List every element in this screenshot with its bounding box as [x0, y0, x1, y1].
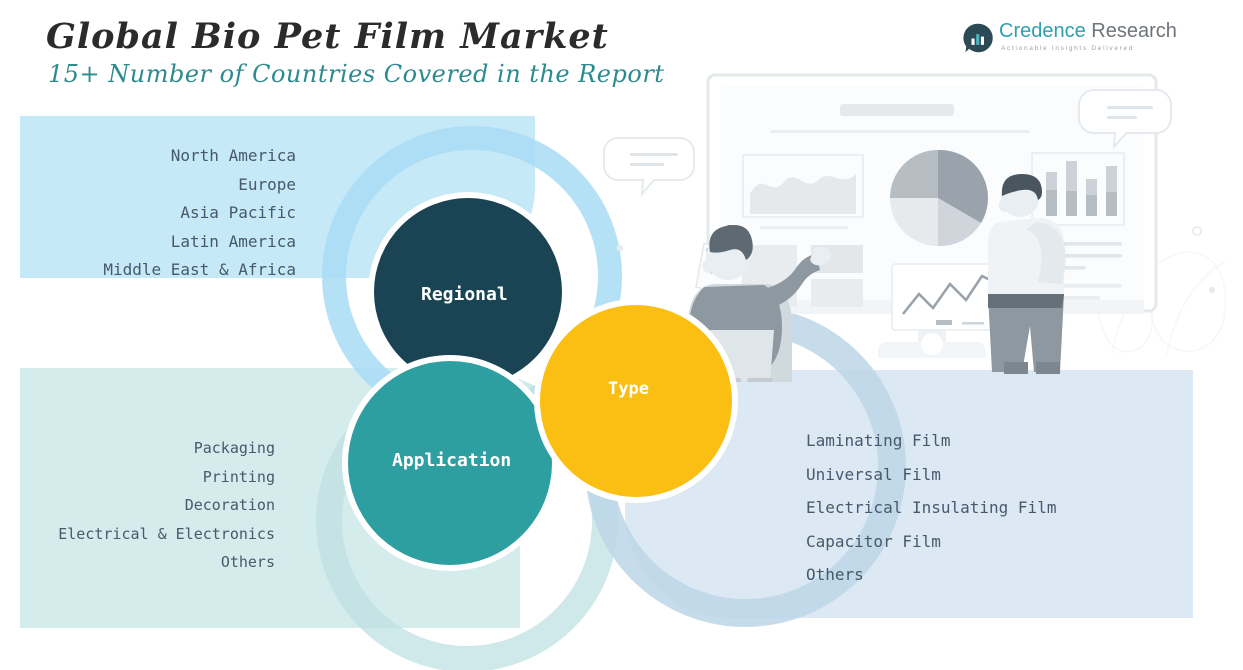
list-item: Europe — [0, 171, 296, 200]
bubble-type[interactable]: Type — [534, 299, 738, 503]
credence-logo-icon — [963, 23, 993, 53]
list-item: Packaging — [0, 434, 275, 463]
person-presenter-right — [988, 174, 1066, 374]
logo-brand-primary: Credence — [999, 20, 1086, 42]
list-type: Laminating Film Universal Film Electrica… — [806, 424, 1056, 592]
list-item: Middle East & Africa — [0, 256, 296, 285]
bubble-label-regional: Regional — [421, 284, 508, 305]
bubble-application[interactable]: Application — [342, 355, 558, 571]
list-item: Asia Pacific — [0, 199, 296, 228]
page-title: Global Bio Pet Film Market — [46, 16, 609, 57]
credence-research-logo: Credence Research Actionable Insights De… — [963, 22, 1168, 62]
list-item: Others — [806, 558, 1056, 592]
logo-tagline: Actionable Insights Delivered — [1001, 45, 1134, 52]
list-item: Others — [0, 548, 275, 577]
infographic-canvas: Global Bio Pet Film Market 15+ Number of… — [0, 0, 1243, 670]
list-item: Laminating Film — [806, 424, 1056, 458]
list-application: Packaging Printing Decoration Electrical… — [0, 434, 275, 577]
page-subtitle: 15+ Number of Countries Covered in the R… — [48, 60, 664, 88]
list-item: Printing — [0, 463, 275, 492]
list-item: Universal Film — [806, 458, 1056, 492]
list-item: Electrical Insulating Film — [806, 491, 1056, 525]
bubble-label-type: Type — [608, 379, 649, 399]
list-item: North America — [0, 142, 296, 171]
list-item: Electrical & Electronics — [0, 520, 275, 549]
list-item: Decoration — [0, 491, 275, 520]
speech-bubble-left — [604, 138, 694, 194]
list-regional: North America Europe Asia Pacific Latin … — [0, 142, 296, 285]
speech-bubble-right — [1079, 90, 1171, 147]
logo-wordmark: Credence Research — [999, 20, 1177, 43]
logo-brand-secondary: Research — [1091, 20, 1177, 42]
list-item: Capacitor Film — [806, 525, 1056, 559]
bubble-label-application: Application — [392, 450, 511, 471]
list-item: Latin America — [0, 228, 296, 257]
